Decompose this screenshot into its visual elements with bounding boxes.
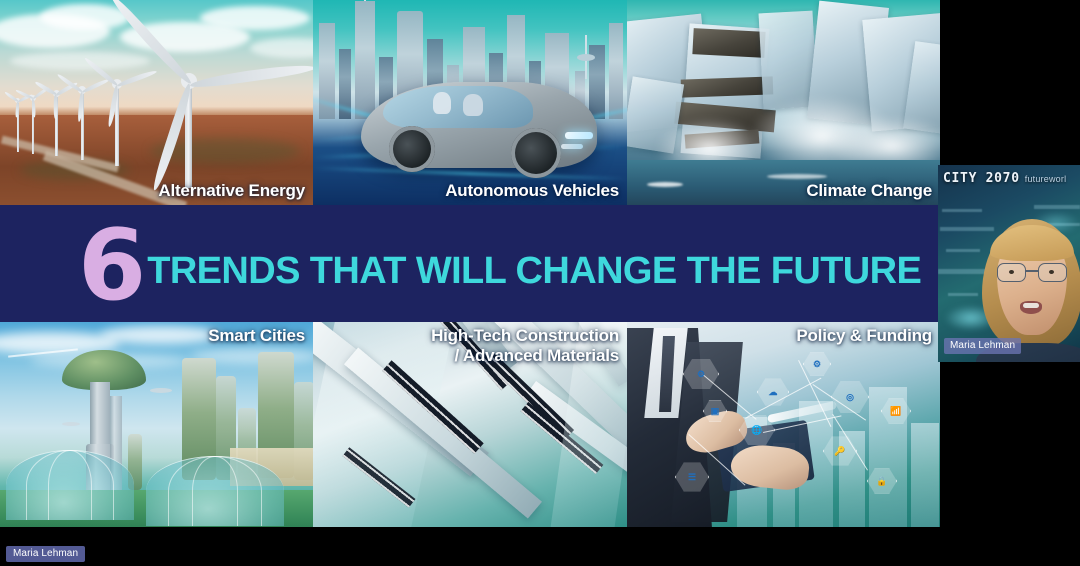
trend-count-number: 6: [78, 226, 143, 306]
participant-video-tile[interactable]: CITY 2070 futureworl Maria Lehman: [938, 165, 1080, 362]
panel-policy-funding: ⚙ ☁ ⚙ 🌐 ◎ 📶 ☰ 🔑 🔒 ▣ Policy & Funding: [627, 322, 940, 527]
panel-label-smart-cities: Smart Cities: [208, 326, 305, 346]
logo-sub-text: futureworl: [1025, 174, 1067, 184]
cloud-icon: ☁: [757, 378, 789, 406]
glasses-icon: [997, 263, 1067, 282]
panel-label-climate-change: Climate Change: [806, 181, 932, 201]
shared-slide: Alternative Energy: [0, 0, 940, 527]
panel-label-policy-funding: Policy & Funding: [796, 326, 932, 346]
smart-cities-image: [0, 322, 313, 527]
logo-main-text: CITY 2070: [943, 171, 1020, 186]
panel-label-line1: High-Tech Construction: [431, 326, 619, 346]
panel-smart-cities: Smart Cities: [0, 322, 313, 527]
panel-label-line2: / Advanced Materials: [431, 346, 619, 366]
panel-label-high-tech-construction: High-Tech Construction / Advanced Materi…: [431, 326, 619, 366]
panel-alternative-energy: Alternative Energy: [0, 0, 313, 205]
slide-title: TRENDS THAT WILL CHANGE THE FUTURE: [147, 250, 921, 293]
active-speaker-name-label: Maria Lehman: [6, 546, 85, 562]
policy-funding-image: ⚙ ☁ ⚙ 🌐 ◎ 📶 ☰ 🔑 🔒 ▣: [627, 322, 940, 527]
wind-farm-image: [0, 0, 313, 205]
webcam-name-label: Maria Lehman: [944, 338, 1021, 354]
panel-label-alternative-energy: Alternative Energy: [158, 181, 305, 201]
autonomous-vehicle-image: [313, 0, 627, 205]
city-2070-logo: CITY 2070 futureworl: [943, 171, 1066, 186]
glacier-calving-image: [627, 0, 940, 205]
panel-high-tech-construction: High-Tech Construction / Advanced Materi…: [313, 322, 627, 527]
panel-label-autonomous-vehicles: Autonomous Vehicles: [445, 181, 619, 201]
slide-bottom-row: Smart Cities: [0, 322, 940, 527]
panel-climate-change: Climate Change: [627, 0, 940, 205]
panel-autonomous-vehicles: Autonomous Vehicles: [313, 0, 627, 205]
slide-top-row: Alternative Energy: [0, 0, 940, 205]
settings-icon: ⚙: [803, 352, 831, 376]
target-icon: ◎: [831, 380, 869, 414]
slide-title-banner: 6 TRENDS THAT WILL CHANGE THE FUTURE: [0, 205, 940, 322]
video-conference-screen: Alternative Energy: [0, 0, 1080, 566]
